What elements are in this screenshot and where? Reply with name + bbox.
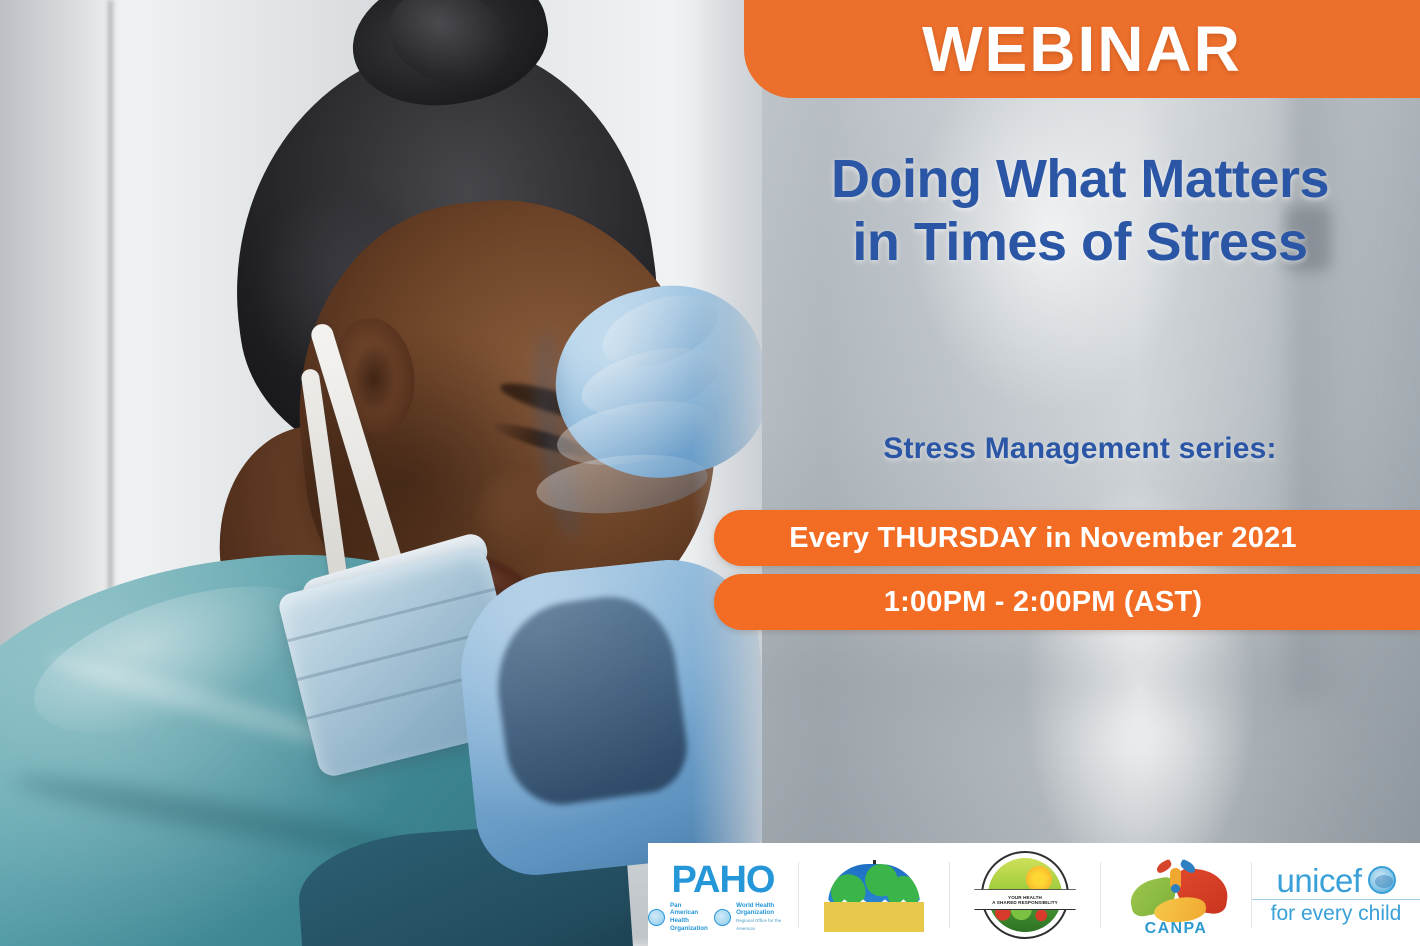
partner-logo-strip: PAHO Pan AmericanHealthOrganization Worl…	[648, 843, 1420, 946]
webinar-banner: WEBINAR	[744, 0, 1420, 98]
photo-ear-inner	[354, 346, 394, 410]
webinar-banner-label: WEBINAR	[922, 17, 1242, 81]
paho-emblem-icon	[648, 909, 665, 926]
umbrella-ministry-logo	[799, 843, 949, 946]
series-subtitle: Stress Management series:	[760, 432, 1400, 466]
canpa-figure-head	[1171, 884, 1180, 893]
unicef-divider	[1252, 899, 1420, 900]
schedule-time-text: 1:00PM - 2:00PM (AST)	[884, 586, 1250, 619]
title-line-2: in Times of Stress	[760, 211, 1400, 274]
health-seal-icon: YOUR HEALTH A SHARED RESPONSIBILITY	[981, 851, 1069, 939]
unicef-globe-icon	[1368, 866, 1396, 894]
page-title: Doing What Matters in Times of Stress	[760, 148, 1400, 273]
seal-ribbon-line-2: A SHARED RESPONSIBILITY	[992, 900, 1058, 905]
paho-who-text: World HealthOrganizationRegional Office …	[736, 902, 798, 932]
paho-pan-american-text: Pan AmericanHealthOrganization	[670, 902, 709, 932]
schedule-time-bar: 1:00PM - 2:00PM (AST)	[714, 574, 1420, 630]
schedule-date-bar: Every THURSDAY in November 2021	[714, 510, 1420, 566]
title-line-1: Doing What Matters	[760, 148, 1400, 211]
unicef-icon: unicef for every child	[1252, 864, 1420, 925]
unicef-wordmark-row: unicef	[1276, 864, 1395, 897]
shared-responsibility-seal-logo: YOUR HEALTH A SHARED RESPONSIBILITY	[950, 843, 1100, 946]
paho-sublogos: Pan AmericanHealthOrganization World Hea…	[648, 902, 798, 932]
umbrella-crowd	[824, 902, 924, 932]
unicef-wordmark: unicef	[1276, 864, 1361, 897]
paho-logo: PAHO Pan AmericanHealthOrganization Worl…	[648, 843, 798, 946]
healthcare-worker-photo	[0, 0, 762, 946]
canpa-logo: CANPA	[1101, 843, 1251, 946]
schedule-date-text: Every THURSDAY in November 2021	[789, 522, 1344, 555]
canpa-icon: CANPA	[1124, 854, 1228, 936]
who-emblem-icon	[714, 909, 731, 926]
umbrella-icon	[822, 858, 926, 932]
unicef-logo: unicef for every child	[1252, 843, 1420, 946]
canpa-acronym: CANPA	[1124, 920, 1228, 938]
seal-sun-icon	[1026, 866, 1052, 892]
seal-ribbon: YOUR HEALTH A SHARED RESPONSIBILITY	[974, 889, 1076, 910]
paho-acronym: PAHO	[672, 861, 775, 899]
webinar-poster: WEBINAR Doing What Matters in Times of S…	[0, 0, 1420, 946]
unicef-tagline: for every child	[1271, 902, 1402, 925]
photo-edge-blend	[692, 0, 762, 946]
